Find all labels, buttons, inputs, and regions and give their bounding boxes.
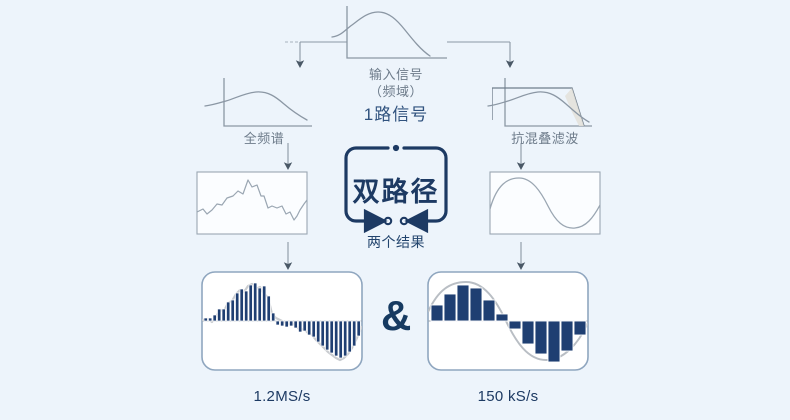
ampersand-symbol: &: [381, 295, 411, 337]
input-signal-spectrum-graph: [332, 6, 447, 58]
two-results-label: 两个结果: [367, 232, 425, 252]
anti-alias-filter-graph: [488, 78, 592, 126]
diagram-graphics: [0, 0, 790, 420]
full-spectrum-label: 全频谱: [244, 128, 285, 147]
input-signal-label-line2: （频域）: [369, 81, 423, 100]
anti-alias-filter-label: 抗混叠滤波: [511, 128, 579, 147]
signal-count-label: 1路信号: [364, 100, 428, 125]
bracket-top-dot: [393, 145, 399, 151]
result-dot-2: [401, 218, 407, 224]
fast-sample-rate-label: 1.2MS/s: [253, 388, 310, 405]
result-dot-1: [385, 218, 391, 224]
result-panel-fast: [202, 272, 362, 370]
result-panel-slow: [428, 272, 588, 370]
sine-waveform-box: [490, 172, 600, 234]
slow-sample-rate-label: 150 kS/s: [478, 388, 539, 405]
branch-connectors: [285, 42, 510, 64]
dual-path-title: 双路径: [353, 170, 440, 209]
full-spectrum-graph: [205, 78, 312, 126]
noisy-waveform-box: [197, 172, 307, 234]
diagram-canvas: 输入信号 （频域） 1路信号 全频谱 抗混叠滤波 双路径 两个结果 & 1.2M…: [0, 0, 790, 420]
